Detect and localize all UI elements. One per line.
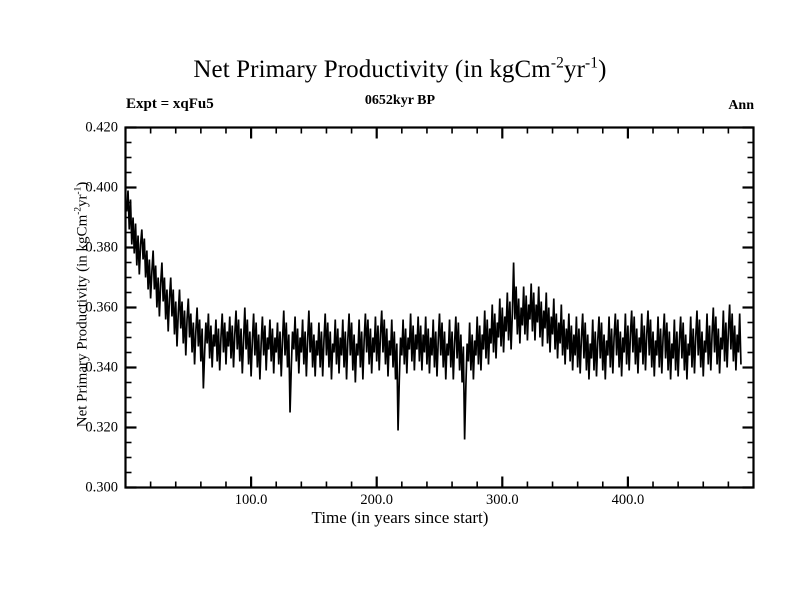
y-axis-tick-labels: 0.3000.3200.3400.3600.3800.4000.420: [62, 0, 118, 600]
x-tick-label: 200.0: [360, 492, 393, 509]
y-tick-label: 0.340: [85, 359, 118, 376]
chart-title: Net Primary Productivity (in kgCm-2yr-1): [0, 56, 800, 84]
y-tick-label: 0.320: [85, 419, 118, 436]
chart-title-mid: yr: [564, 56, 585, 83]
y-tick-label: 0.300: [85, 479, 118, 496]
chart-title-pre: Net Primary Productivity (in kgCm: [193, 56, 550, 83]
chart-title-sup1: -2: [551, 55, 564, 72]
chart-title-post: ): [598, 56, 606, 83]
x-tick-label: 300.0: [486, 492, 519, 509]
x-tick-label: 400.0: [612, 492, 645, 509]
experiment-label: Expt = xqFu5: [126, 96, 214, 113]
y-tick-label: 0.400: [85, 179, 118, 196]
chart-subtitle: 0652kyr BP: [0, 93, 800, 109]
axes-frame: [126, 128, 754, 488]
figure-root: Net Primary Productivity (in kgCm-2yr-1)…: [0, 0, 800, 600]
x-axis-title: Time (in years since start): [0, 508, 800, 528]
chart-title-sup2: -1: [585, 55, 598, 72]
averaging-label: Ann: [728, 98, 754, 114]
y-tick-label: 0.360: [85, 299, 118, 316]
y-tick-label: 0.380: [85, 239, 118, 256]
data-series-group: [127, 191, 741, 440]
x-tick-label: 100.0: [235, 492, 268, 509]
y-tick-label: 0.420: [85, 119, 118, 136]
